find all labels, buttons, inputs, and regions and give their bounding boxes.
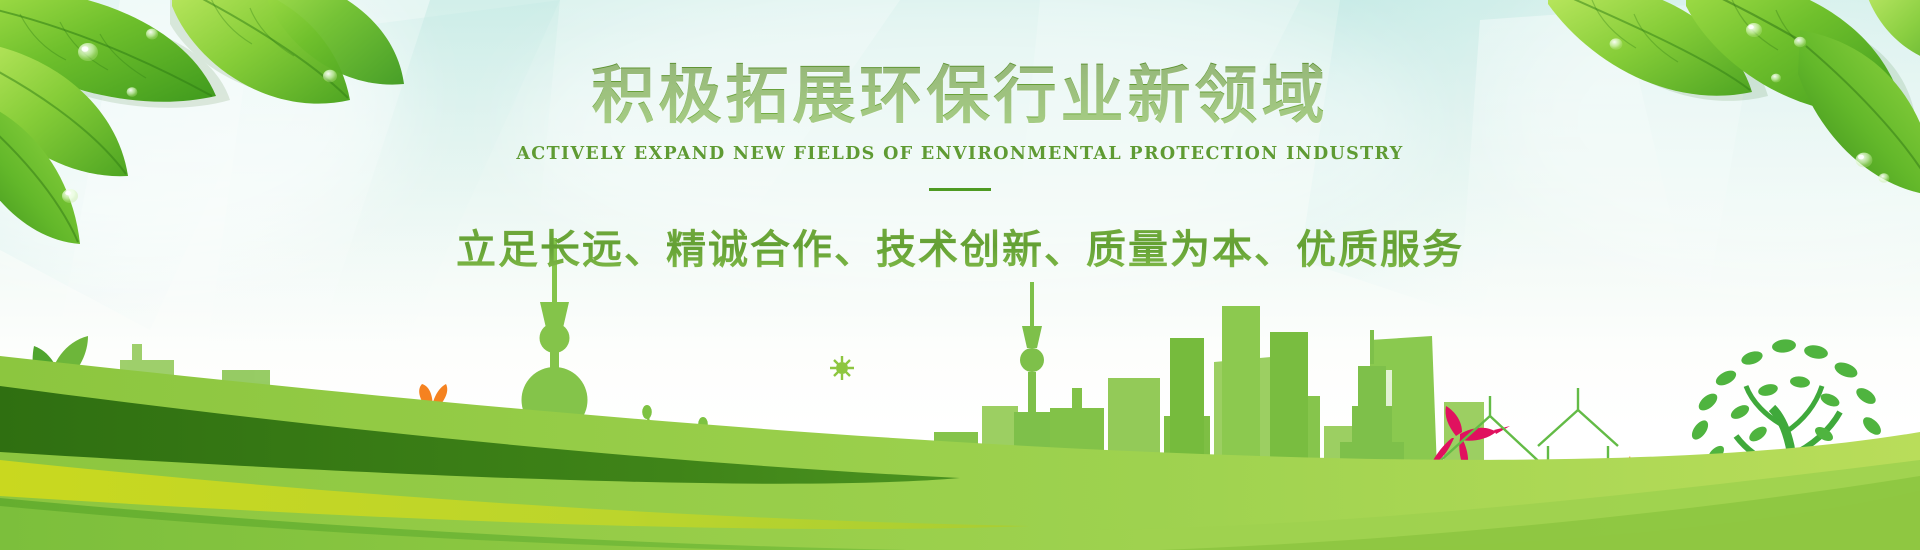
grass-right-2-icon <box>1686 482 1744 550</box>
cattail-icon <box>1620 456 1634 472</box>
pavilion-solid-base <box>1386 484 1596 550</box>
cattail-mid-icon <box>830 484 849 497</box>
wave-band-right-hill-2 <box>1160 476 1920 550</box>
skyline-downtown-windows <box>1178 370 1392 512</box>
wave-band-mid <box>0 498 1100 550</box>
grass-mid-icon <box>832 474 892 550</box>
wave-band-right-hill <box>1100 460 1920 550</box>
cattail-2-icon <box>1718 467 1732 482</box>
page-title: 积极拓展环保行业新领域 <box>0 0 1920 128</box>
title-divider <box>929 188 991 191</box>
tower-small-stripe <box>1027 470 1035 550</box>
ladybug-icon <box>1020 523 1045 541</box>
wave-band-lime <box>0 460 1030 529</box>
feather-plant-mid <box>634 414 702 550</box>
pavilion-outline-icon <box>1390 388 1618 550</box>
sprout-skyline-2-icon <box>1232 468 1272 488</box>
sprout-skyline-icon <box>938 488 986 550</box>
bicycle-icon <box>334 416 544 550</box>
page-subtitle: ACTIVELY EXPAND NEW FIELDS OF ENVIRONMEN… <box>0 144 1920 164</box>
spire-building-icon <box>1340 330 1404 550</box>
skyline-left-group <box>0 344 338 550</box>
ladybug-flower <box>990 510 1030 547</box>
bicycle-details <box>351 408 490 514</box>
pavilion-arch <box>1432 514 1541 550</box>
flower-magenta-mid-icon <box>772 470 816 550</box>
butterfly-orange-icon <box>418 384 448 432</box>
eco-banner: 积极拓展环保行业新领域 ACTIVELY EXPAND NEW FIELDS O… <box>0 0 1920 550</box>
grass-right-icon <box>1586 472 1658 550</box>
skyline-downtown-group <box>1050 336 1484 550</box>
page-tagline: 立足长远、精诚合作、技术创新、质量为本、优质服务 <box>0 217 1920 275</box>
sprout-left-icon <box>17 336 94 550</box>
tv-tower-windows <box>552 442 558 531</box>
wave-band-bottom <box>0 490 1920 550</box>
skyline-mid-group <box>700 406 1018 550</box>
flower-pink-right-icon <box>1579 492 1613 550</box>
headline-block: 积极拓展环保行业新领域 ACTIVELY EXPAND NEW FIELDS O… <box>0 0 1920 330</box>
feather-plant-mid-buds <box>628 405 708 481</box>
gear-sprite-icon <box>830 356 854 380</box>
wave-band-dark <box>0 386 960 484</box>
tree-icon <box>1689 338 1884 550</box>
skyline-bars-group <box>1170 306 1308 550</box>
wave-band-light <box>0 356 1920 550</box>
bud-yellow-icon <box>812 524 824 536</box>
sunflower-icon <box>1644 458 1700 550</box>
twig-plant-left-leaves <box>105 428 168 469</box>
hummingbird-icon <box>1430 406 1510 472</box>
twig-plant-left <box>110 436 162 550</box>
